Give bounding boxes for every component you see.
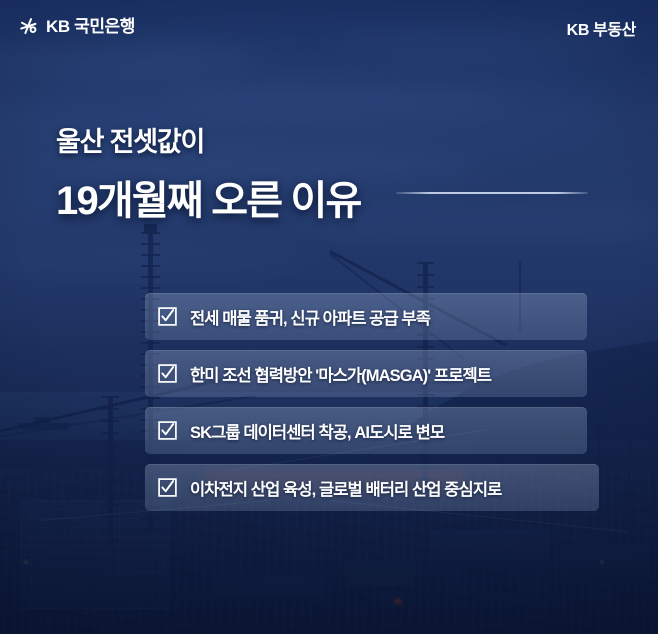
kb-star-icon (18, 16, 39, 37)
checkbox-checked-icon (158, 478, 177, 497)
checkbox-checked-icon (158, 421, 177, 440)
kb-kookmin-bank-logo: KB 국민은행 (18, 15, 135, 37)
checkbox-checked-icon (158, 307, 177, 326)
headline-rule (396, 192, 588, 194)
headline-title: 19개월째 오른 이유 (56, 168, 361, 226)
checklist-item-4[interactable]: 이차전지 산업 육성, 글로벌 배터리 산업 중심지로 (145, 464, 599, 511)
checklist-item-3[interactable]: SK그룹 데이터센터 착공, AI도시로 변모 (145, 407, 587, 454)
kb-kookmin-bank-label: KB 국민은행 (46, 16, 135, 37)
checklist-item-label: 이차전지 산업 육성, 글로벌 배터리 산업 중심지로 (190, 476, 501, 500)
kb-realestate-logo: KB 부동산 (567, 16, 636, 40)
checklist-item-label: 전세 매물 품귀, 신규 아파트 공급 부족 (190, 305, 430, 329)
checklist-item-1[interactable]: 전세 매물 품귀, 신규 아파트 공급 부족 (145, 293, 587, 340)
checklist-item-2[interactable]: 한미 조선 협력방안 '마스가(MASGA)' 프로젝트 (145, 350, 587, 397)
checkbox-checked-icon (158, 364, 177, 383)
checklist-item-label: SK그룹 데이터센터 착공, AI도시로 변모 (190, 419, 444, 443)
checklist-item-label: 한미 조선 협력방안 '마스가(MASGA)' 프로젝트 (190, 362, 491, 386)
headline-eyebrow: 울산 전셋값이 (56, 120, 204, 159)
promo-card: KB 국민은행 KB 부동산 울산 전셋값이 19개월째 오른 이유 전세 매물… (0, 0, 658, 634)
checklist: 전세 매물 품귀, 신규 아파트 공급 부족 한미 조선 협력방안 '마스가(M… (145, 293, 587, 511)
